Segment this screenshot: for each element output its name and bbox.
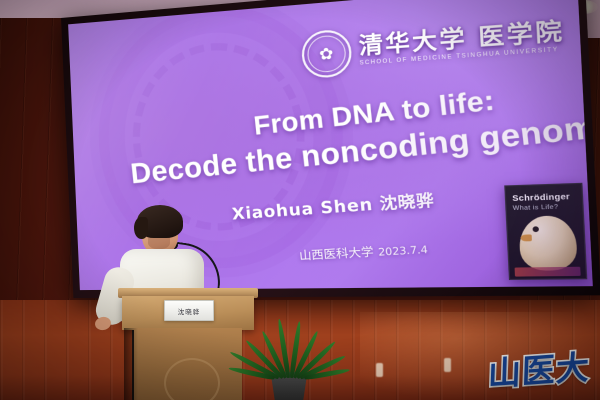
venue-line: 山西医科大学2023.7.4 bbox=[298, 240, 428, 264]
book-author: Schrödinger bbox=[512, 191, 570, 203]
chick-photo-icon bbox=[518, 215, 578, 271]
book-cover-footer bbox=[515, 267, 581, 277]
speaker-hair bbox=[137, 205, 183, 238]
presenter-name-cn: 沈晓骅 bbox=[379, 190, 436, 214]
channel-watermark: 山医大 bbox=[487, 340, 590, 395]
podium-shadow bbox=[124, 328, 138, 400]
podium-nameplate: 沈晓骅 bbox=[164, 300, 214, 321]
lecture-hall-photo: ✿ 清华大学 医学院 SCHOOL OF MEDICINE TSINGHUA U… bbox=[0, 0, 600, 400]
university-logo: ✿ 清华大学 医学院 SCHOOL OF MEDICINE TSINGHUA U… bbox=[300, 12, 566, 79]
nameplate-text: 沈晓骅 bbox=[178, 306, 201, 316]
venue-name-cn: 山西医科大学 bbox=[299, 245, 375, 263]
presentation-date: 2023.7.4 bbox=[378, 244, 429, 259]
schrodinger-book-cover: Schrödinger What is Life? bbox=[504, 183, 587, 280]
potted-plant-icon bbox=[228, 318, 358, 400]
book-subtitle: What is Life? bbox=[513, 204, 559, 212]
podium-column bbox=[134, 328, 242, 400]
floor-spot-2 bbox=[444, 358, 451, 372]
floor-spot-1 bbox=[376, 363, 383, 377]
emblem-glyph: ✿ bbox=[319, 45, 334, 62]
tsinghua-emblem-icon: ✿ bbox=[300, 28, 352, 79]
